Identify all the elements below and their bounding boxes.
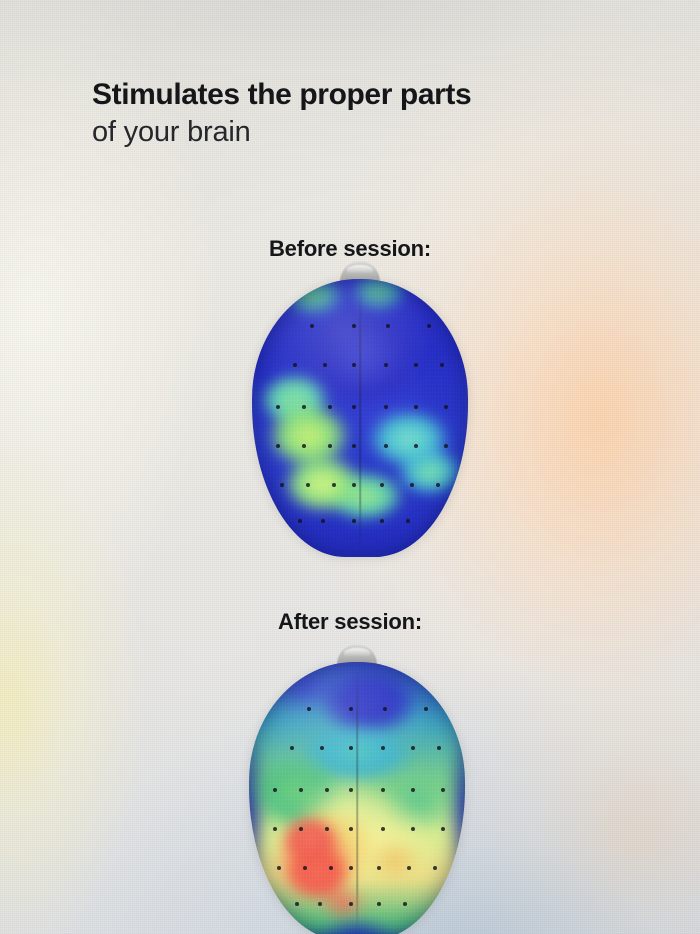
electrode-marker [321,519,325,523]
electrode-marker [384,363,388,367]
electrode-marker [381,788,385,792]
electrode-marker [328,405,332,409]
electrode-marker [437,746,441,750]
electrode-marker [303,866,307,870]
before-session-label: Before session: [0,236,700,262]
electrode-marker [444,405,448,409]
electrode-marker [436,483,440,487]
electrode-marker [383,707,387,711]
page-title: Stimulates the proper parts [92,76,612,114]
electrode-marker [411,746,415,750]
electrode-marker [277,866,281,870]
electrode-marker [349,902,353,906]
electrode-marker [381,827,385,831]
electrode-marker [424,707,428,711]
electrode-marker [410,483,414,487]
promo-slide: Stimulates the proper parts of your brai… [0,0,700,934]
eeg-topographic-map-after [249,662,465,934]
electrode-marker [318,902,322,906]
electrode-marker [295,902,299,906]
electrode-marker [276,444,280,448]
electrode-marker [386,324,390,328]
electrode-marker [352,519,356,523]
electrode-marker [384,444,388,448]
electrode-marker [325,827,329,831]
electrode-marker [302,405,306,409]
electrode-marker [276,405,280,409]
electrode-marker [310,324,314,328]
electrode-marker [349,707,353,711]
electrode-marker [320,746,324,750]
electrode-marker [403,902,407,906]
electrode-marker [433,866,437,870]
electrode-marker [441,827,445,831]
electrode-marker [323,363,327,367]
electrode-marker [302,444,306,448]
electrode-marker [329,866,333,870]
electrode-marker [411,827,415,831]
head-outline-before [252,279,468,557]
electrode-marker [349,746,353,750]
electrode-marker [441,788,445,792]
electrode-marker [407,866,411,870]
electrode-marker [349,788,353,792]
eeg-topographic-map-before [252,279,468,557]
electrode-marker [380,483,384,487]
electrode-marker [293,363,297,367]
head-outline-after [249,662,465,934]
electrode-marker [306,483,310,487]
page-subtitle: of your brain [92,114,612,150]
electrode-marker [380,519,384,523]
electrode-marker [377,902,381,906]
electrode-marker [290,746,294,750]
electrode-marker [273,788,277,792]
electrode-marker [349,866,353,870]
electrode-marker [273,827,277,831]
electrode-marker [352,324,356,328]
electrode-grid-after [249,662,465,934]
electrode-grid-before [252,279,468,557]
electrode-marker [414,444,418,448]
electrode-marker [411,788,415,792]
electrode-marker [307,707,311,711]
electrode-marker [352,483,356,487]
electrode-marker [325,788,329,792]
electrode-marker [280,483,284,487]
electrode-marker [352,363,356,367]
electrode-marker [299,827,303,831]
electrode-marker [414,405,418,409]
electrode-marker [298,519,302,523]
electrode-marker [332,483,336,487]
electrode-marker [427,324,431,328]
electrode-marker [384,405,388,409]
electrode-marker [352,444,356,448]
electrode-marker [299,788,303,792]
electrode-marker [414,363,418,367]
electrode-marker [349,827,353,831]
headline-block: Stimulates the proper parts of your brai… [92,76,612,150]
electrode-marker [352,405,356,409]
electrode-marker [440,363,444,367]
electrode-marker [377,866,381,870]
electrode-marker [406,519,410,523]
electrode-marker [328,444,332,448]
electrode-marker [444,444,448,448]
electrode-marker [381,746,385,750]
after-session-label: After session: [0,609,700,635]
